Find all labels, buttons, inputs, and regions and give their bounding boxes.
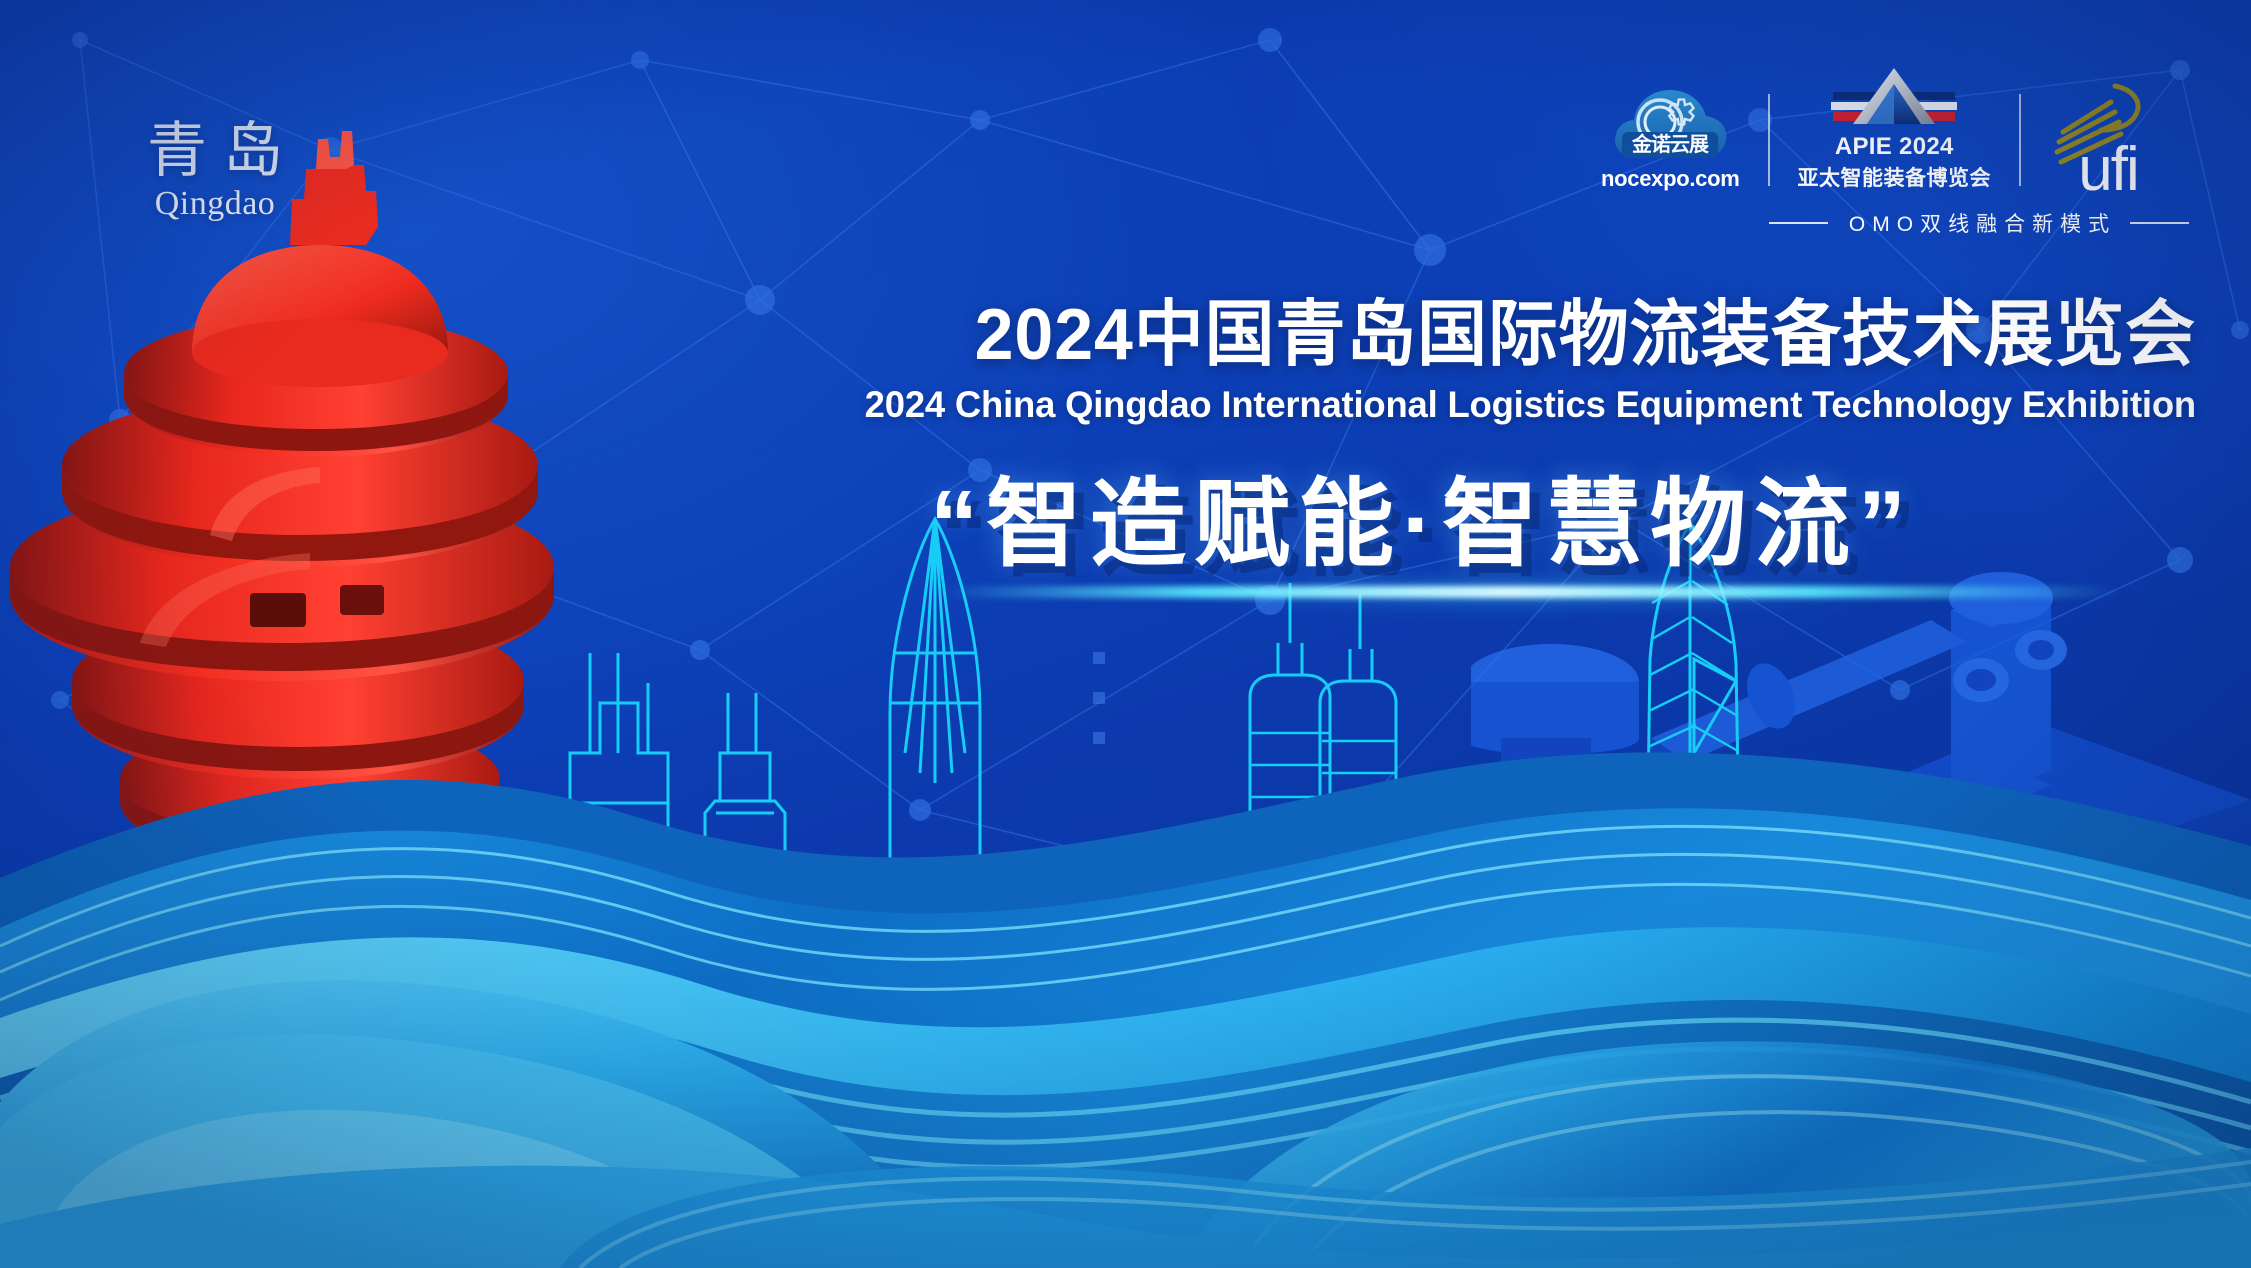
may-wind-sculpture bbox=[0, 95, 720, 975]
exhibition-title-english: 2024 China Qingdao International Logisti… bbox=[797, 384, 2196, 426]
omo-tagline-text: OMO双线融合新模式 bbox=[1842, 208, 2116, 238]
apie-triangle-icon bbox=[1819, 62, 1969, 130]
slogan-block: “智造赋能·智慧物流” bbox=[930, 460, 2160, 630]
exhibition-title-chinese: 2024中国青岛国际物流装备技术展览会 bbox=[819, 298, 2196, 374]
qingdao-wordmark: 青岛 Qingdao bbox=[100, 120, 330, 223]
slogan-text: “智造赋能·智慧物流” bbox=[930, 460, 2160, 590]
svg-text:ufi: ufi bbox=[2078, 135, 2137, 192]
wave-ribbons bbox=[0, 628, 2251, 1268]
nocexpo-url-text: nocexpo.com bbox=[1601, 166, 1740, 192]
svg-text:金诺云展: 金诺云展 bbox=[1631, 132, 1709, 156]
cloud-gear-icon: 金诺云展 bbox=[1608, 74, 1732, 170]
apie-logo[interactable]: APIE 2024 亚太智能装备博览会 bbox=[1776, 62, 2014, 192]
logo-row: 金诺云展 nocexpo.com bbox=[1579, 62, 2189, 192]
apie-english-text: APIE 2024 bbox=[1835, 133, 1954, 161]
qingdao-english-text: Qingdao bbox=[100, 185, 330, 223]
ufi-logo[interactable]: ufi bbox=[2027, 80, 2189, 192]
exhibition-banner: 青岛 Qingdao 金诺云展 bbox=[0, 0, 2251, 1268]
logo-divider-1 bbox=[1768, 94, 1770, 186]
title-block: 2024中国青岛国际物流装备技术展览会 2024 China Qingdao I… bbox=[776, 298, 2196, 426]
ufi-swoosh-icon: ufi bbox=[2049, 80, 2167, 192]
omo-tagline: OMO双线融合新模式 bbox=[1769, 208, 2189, 238]
nocexpo-logo[interactable]: 金诺云展 nocexpo.com bbox=[1579, 74, 1762, 192]
logo-divider-2 bbox=[2019, 94, 2021, 186]
apie-chinese-text: 亚太智能装备博览会 bbox=[1798, 162, 1992, 192]
partner-logo-bar: 金诺云展 nocexpo.com bbox=[1579, 62, 2189, 238]
omo-rule-right bbox=[2130, 222, 2189, 224]
omo-rule-left bbox=[1769, 222, 1828, 224]
qingdao-chinese-text: 青岛 bbox=[100, 120, 330, 183]
